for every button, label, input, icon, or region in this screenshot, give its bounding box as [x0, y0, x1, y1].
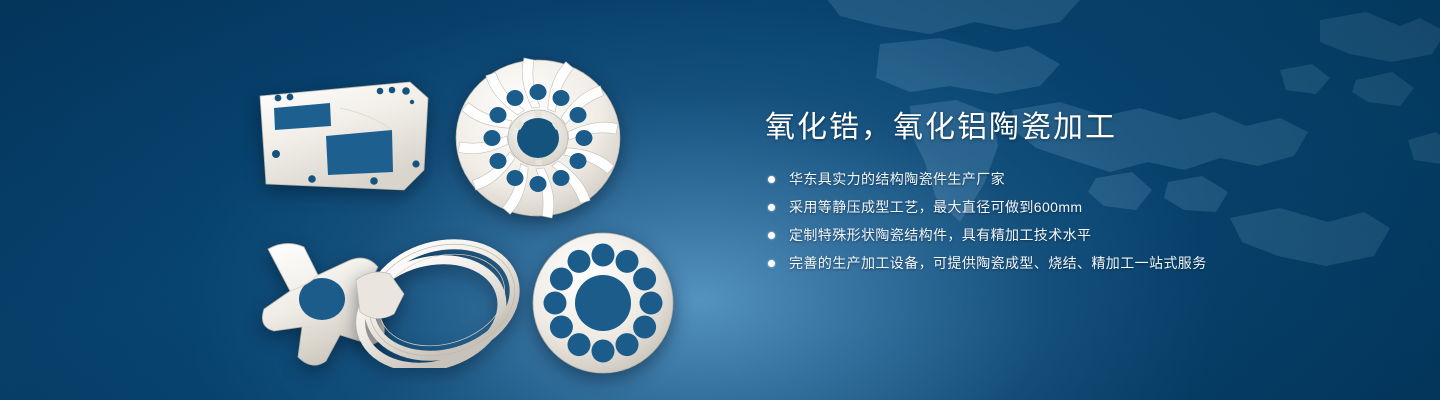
- list-item-label: 华东具实力的结构陶瓷件生产厂家: [789, 171, 1005, 187]
- hero-banner: 氧化锆，氧化铝陶瓷加工 华东具实力的结构陶瓷件生产厂家 采用等静压成型工艺，最大…: [0, 0, 1440, 400]
- list-item: 华东具实力的结构陶瓷件生产厂家: [765, 170, 1385, 189]
- bullet-dot-icon: [768, 260, 775, 267]
- banner-copy: 氧化锆，氧化铝陶瓷加工 华东具实力的结构陶瓷件生产厂家 采用等静压成型工艺，最大…: [765, 108, 1385, 282]
- list-item: 采用等静压成型工艺，最大直径可做到600mm: [765, 198, 1385, 217]
- product-photo-group: [0, 0, 720, 400]
- bullet-dot-icon: [768, 232, 775, 239]
- list-item-label: 完善的生产加工设备，可提供陶瓷成型、烧结、精加工一站式服务: [789, 255, 1207, 271]
- feature-list: 华东具实力的结构陶瓷件生产厂家 采用等静压成型工艺，最大直径可做到600mm 定…: [765, 170, 1385, 273]
- ceramic-perforated-disc: [528, 228, 678, 378]
- list-item-label: 定制特殊形状陶瓷结构件，具有精加工技术水平: [789, 227, 1091, 243]
- ceramic-rings: [350, 228, 530, 368]
- ceramic-plate: [252, 78, 437, 203]
- bullet-dot-icon: [768, 176, 775, 183]
- list-item: 完善的生产加工设备，可提供陶瓷成型、烧结、精加工一站式服务: [765, 254, 1385, 273]
- page-title: 氧化锆，氧化铝陶瓷加工: [765, 108, 1385, 148]
- bullet-dot-icon: [768, 204, 775, 211]
- ceramic-impeller: [451, 52, 626, 222]
- list-item: 定制特殊形状陶瓷结构件，具有精加工技术水平: [765, 226, 1385, 245]
- list-item-label: 采用等静压成型工艺，最大直径可做到600mm: [789, 199, 1082, 215]
